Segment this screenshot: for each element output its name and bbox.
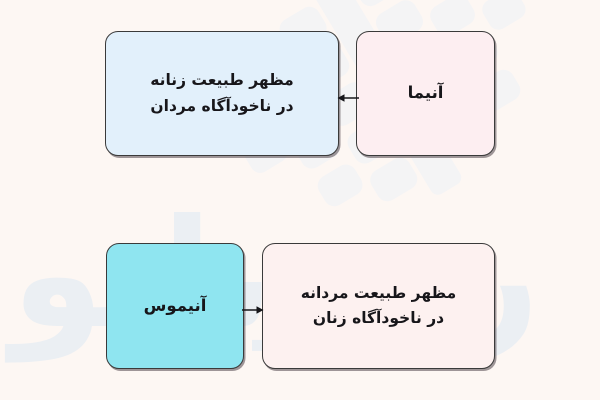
node-feminine-description-label: مظهر طبیعت زنانه در ناخودآگاه مردان	[140, 68, 304, 118]
node-animus-label: آنیموس	[134, 293, 217, 320]
diagram-canvas: روزیاتو مظهر طبیعت زنانه در ناخودآگاه مر…	[0, 0, 600, 400]
node-anima: آنیما	[356, 31, 495, 156]
node-masculine-description-label: مظهر طبیعت مردانه در ناخودآگاه زنان	[291, 281, 467, 331]
node-anima-label: آنیما	[398, 80, 454, 107]
node-animus: آنیموس	[106, 243, 244, 369]
node-masculine-description: مظهر طبیعت مردانه در ناخودآگاه زنان	[262, 243, 495, 369]
node-feminine-description: مظهر طبیعت زنانه در ناخودآگاه مردان	[105, 31, 339, 156]
